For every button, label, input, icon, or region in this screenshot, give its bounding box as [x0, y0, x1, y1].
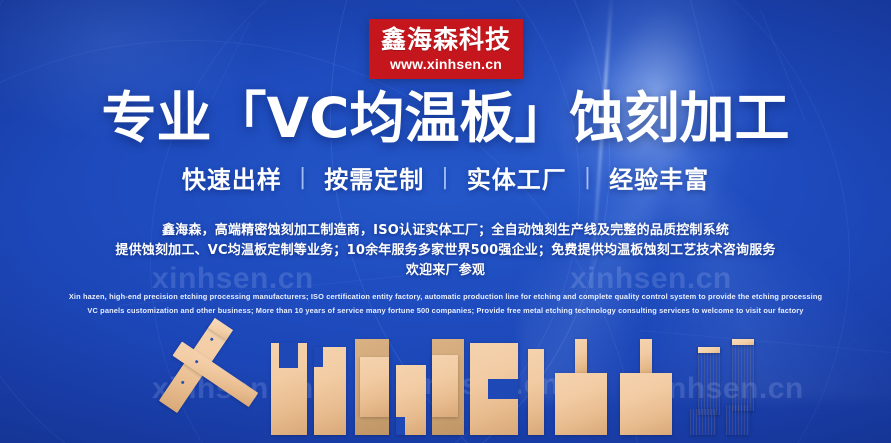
feature-item-1: 快速出样 — [182, 160, 282, 195]
feature-item-3: 实体工厂 — [467, 160, 567, 195]
company-website: www.xinhsen.cn — [390, 57, 502, 71]
company-name-cn: 鑫海森科技 — [381, 27, 511, 52]
description-cn-line-3: 欢迎来厂参观 — [0, 261, 891, 281]
product-plate-1 — [165, 335, 285, 435]
plate-stem — [575, 339, 587, 375]
plate-notch — [396, 417, 405, 435]
plate-head — [555, 373, 607, 435]
product-image-strip — [0, 328, 891, 443]
plate-foot — [690, 409, 716, 435]
description-en-line-2: VC panels customization and other busine… — [0, 304, 891, 318]
description-chinese: 鑫海森，高端精密蚀刻加工制造商，ISO认证实体工厂；全自动蚀刻生产线及完整的品质… — [0, 221, 891, 281]
plate-inner — [360, 357, 389, 417]
product-plate-4 — [355, 339, 389, 435]
product-plate-8 — [528, 349, 544, 435]
plate-foot — [726, 405, 750, 435]
plate-body — [698, 347, 720, 415]
feature-separator: | — [299, 165, 307, 190]
product-plate-6 — [432, 339, 464, 435]
plate-tip — [698, 347, 720, 353]
plate-body — [732, 339, 754, 411]
product-plate-9 — [555, 339, 607, 435]
plate-notch — [488, 379, 518, 399]
feature-item-4: 经验丰富 — [609, 160, 709, 195]
promo-banner: xinhsen.cn xinhsen.cn xinhsen.cn xinhsen… — [0, 0, 891, 443]
plate-body — [528, 349, 544, 435]
plate-head — [620, 373, 672, 435]
plate-inner — [432, 355, 458, 417]
plate-tip — [732, 339, 754, 345]
product-plate-5 — [396, 365, 426, 435]
feature-separator: | — [441, 165, 449, 190]
description-en-line-1: Xin hazen, high-end precision etching pr… — [0, 290, 891, 304]
description-cn-line-1: 鑫海森，高端精密蚀刻加工制造商，ISO认证实体工厂；全自动蚀刻生产线及完整的品质… — [0, 221, 891, 241]
product-plate-10 — [620, 339, 672, 435]
company-logo[interactable]: 鑫海森科技 www.xinhsen.cn — [369, 19, 523, 79]
feature-item-2: 按需定制 — [324, 160, 424, 195]
feature-separator: | — [584, 165, 592, 190]
plate-notch — [314, 347, 323, 367]
product-plate-2 — [271, 343, 307, 435]
plate-stem — [640, 339, 652, 375]
product-plate-3 — [314, 347, 346, 435]
description-cn-line-2: 提供蚀刻加工、VC均温板定制等业务；10余年服务多家世界500强企业；免费提供均… — [0, 241, 891, 261]
product-plate-12 — [726, 339, 758, 435]
product-plate-11 — [690, 347, 724, 435]
page-title: 专业「VC均温板」蚀刻加工 — [0, 88, 891, 150]
product-plate-7 — [470, 343, 518, 435]
feature-list: 快速出样 | 按需定制 | 实体工厂 | 经验丰富 — [0, 160, 891, 195]
plate-notch — [279, 343, 298, 368]
description-english: Xin hazen, high-end precision etching pr… — [0, 290, 891, 318]
